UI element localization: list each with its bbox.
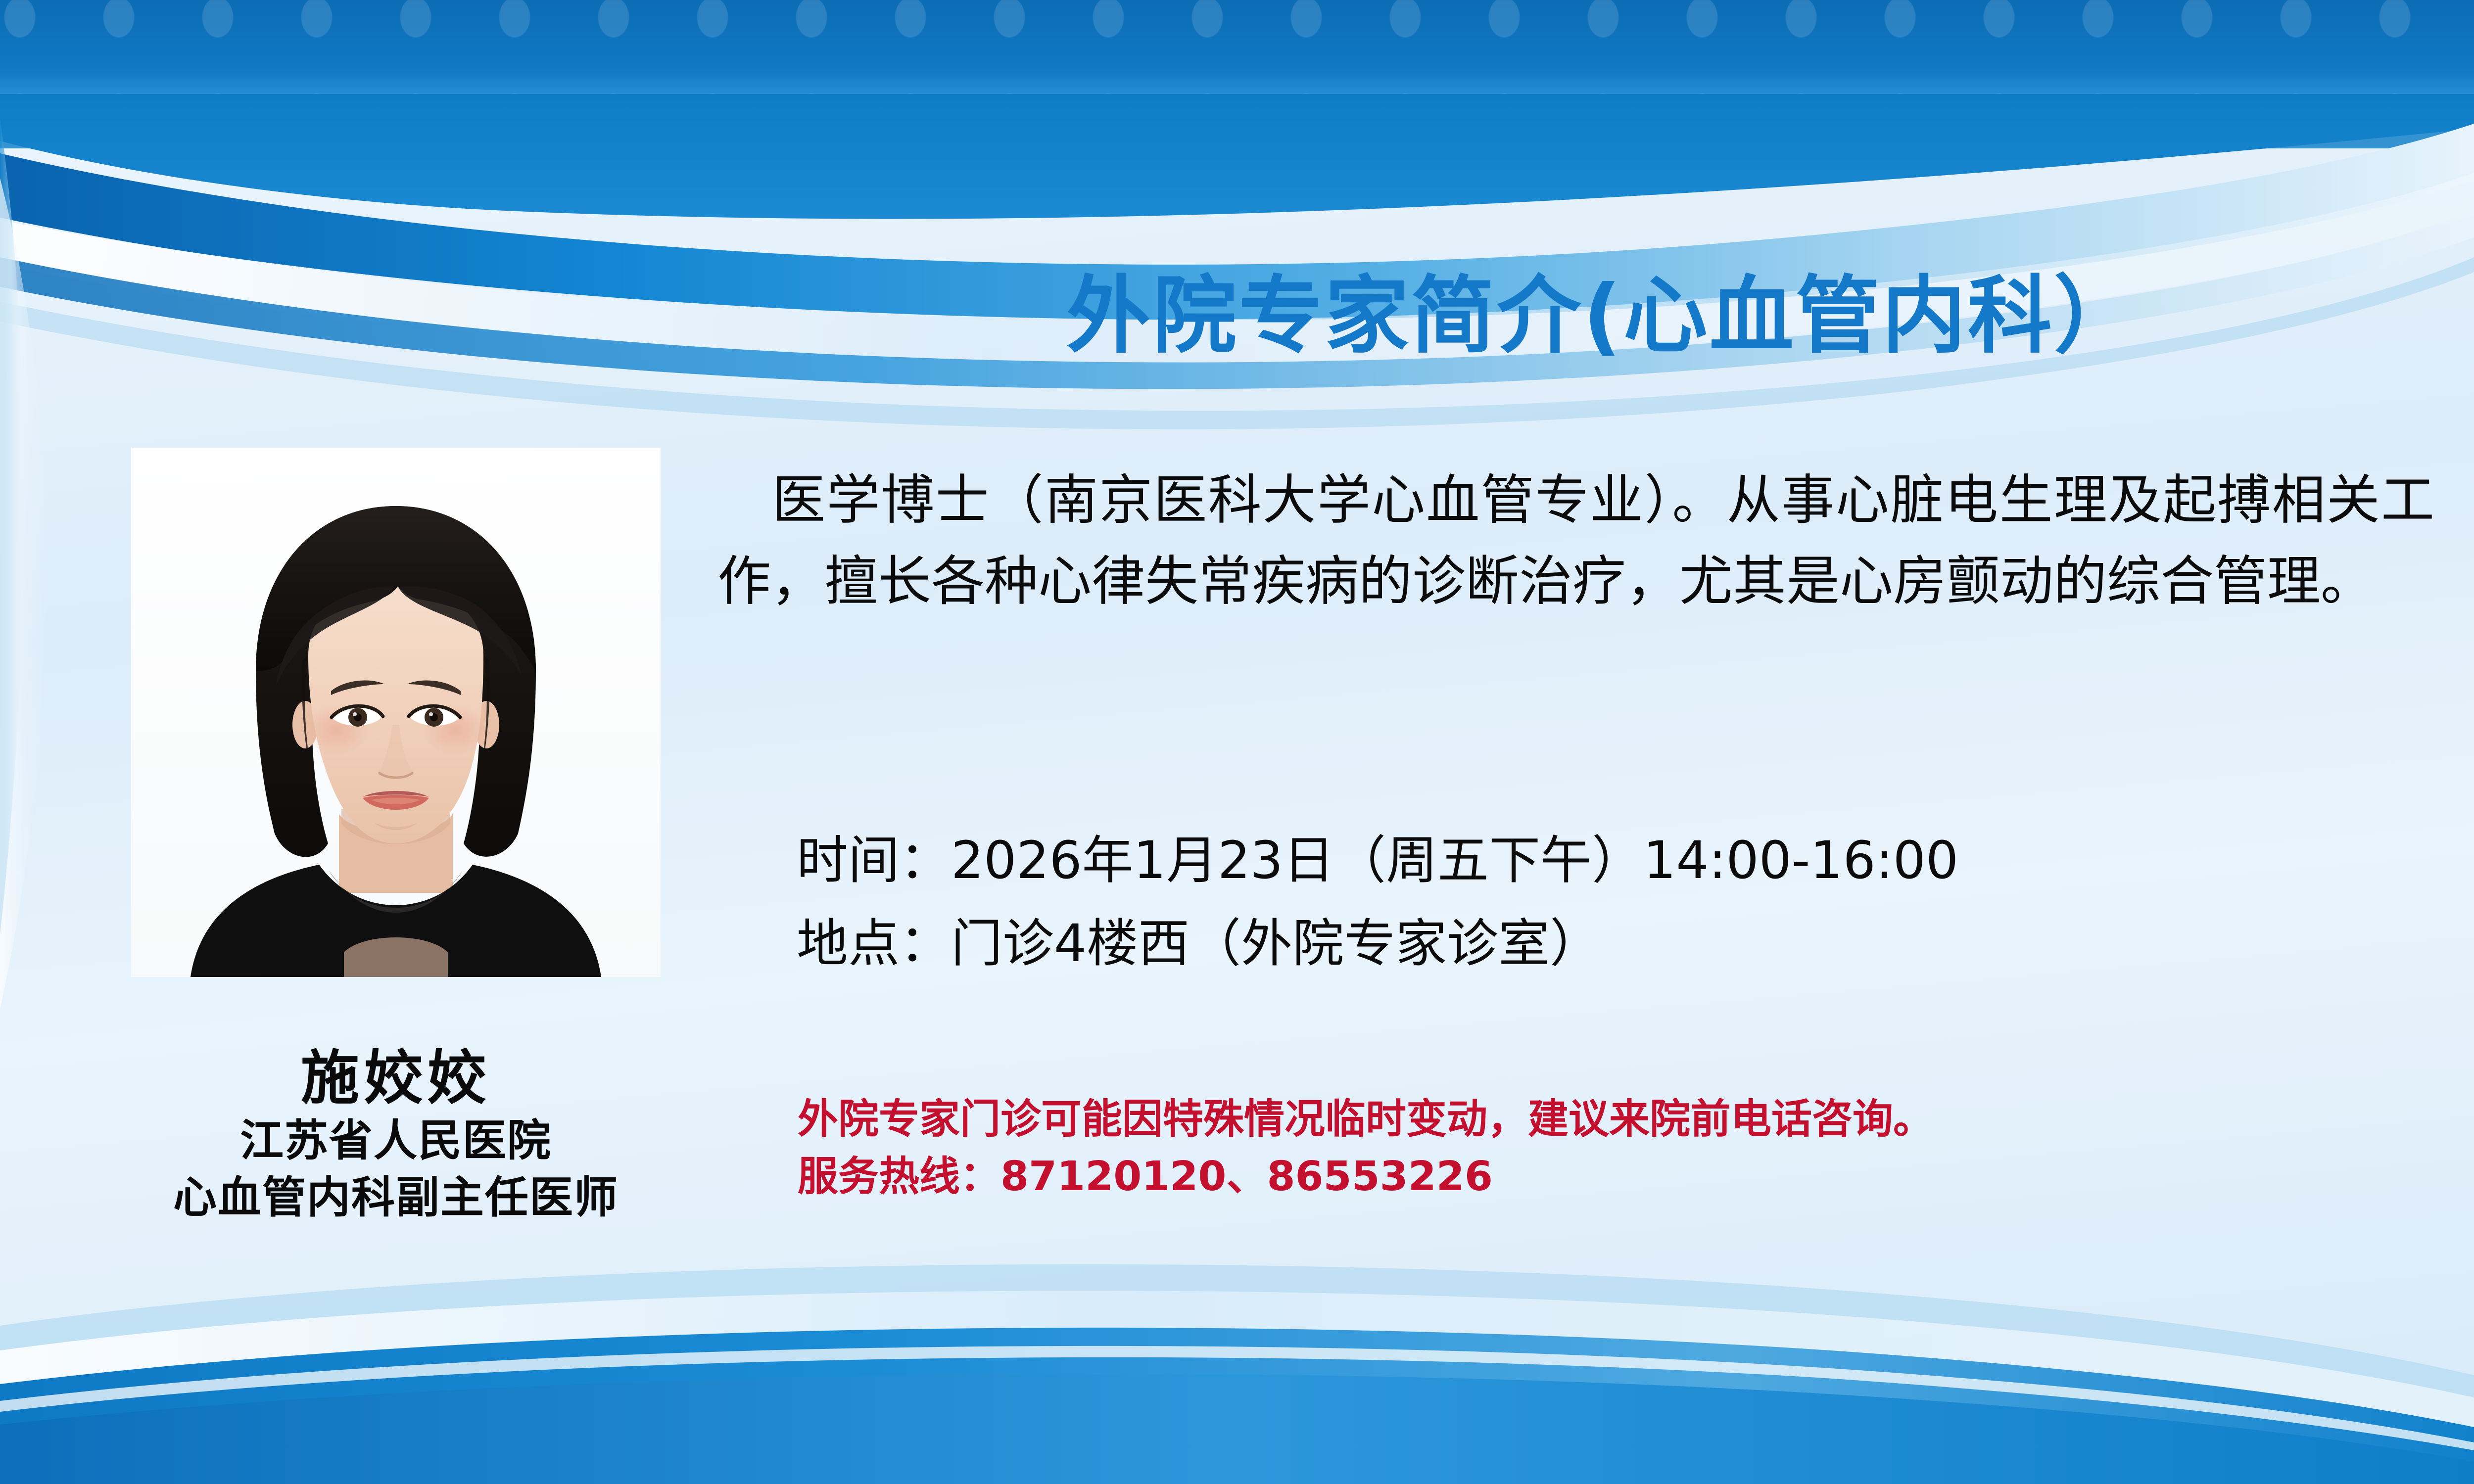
notice-block: 外院专家门诊可能因特殊情况临时变动，建议来院前电话咨询。 服务热线：871201… <box>798 1091 2460 1206</box>
notice-warning: 外院专家门诊可能因特殊情况临时变动，建议来院前电话咨询。 <box>798 1091 2460 1148</box>
portrait-illustration <box>131 448 661 977</box>
doctor-affiliation: 江苏省人民医院 <box>20 1113 772 1169</box>
schedule-time: 时间：2026年1月23日（周五下午）14:00-16:00 <box>797 819 2454 902</box>
top-banner <box>0 0 2474 148</box>
doctor-name: 施姣姣 <box>20 1044 772 1113</box>
doctor-photo <box>131 448 661 977</box>
banner-sheen <box>0 69 2474 148</box>
footer-wave-decoration <box>0 1227 2474 1484</box>
page-title: 外院专家简介(心血管内科） <box>762 247 2444 369</box>
schedule-location: 地点：门诊4楼西（外院专家诊室） <box>797 902 2454 985</box>
doctor-position: 心血管内科副主任医师 <box>20 1169 772 1226</box>
bio-paragraph: 医学博士（南京医科大学心血管专业）。从事心脏电生理及起搏相关工作，擅长各种心律失… <box>717 460 2434 622</box>
expert-profile-poster: 施姣姣 江苏省人民医院 心血管内科副主任医师 外院专家简介(心血管内科） 医学博… <box>0 0 2474 1484</box>
service-hotline: 服务热线：87120120、86553226 <box>798 1148 2460 1206</box>
bio-block: 医学博士（南京医科大学心血管专业）。从事心脏电生理及起搏相关工作，擅长各种心律失… <box>717 460 2434 622</box>
doctor-caption: 施姣姣 江苏省人民医院 心血管内科副主任医师 <box>20 1044 772 1226</box>
schedule-block: 时间：2026年1月23日（周五下午）14:00-16:00 地点：门诊4楼西（… <box>797 819 2454 985</box>
